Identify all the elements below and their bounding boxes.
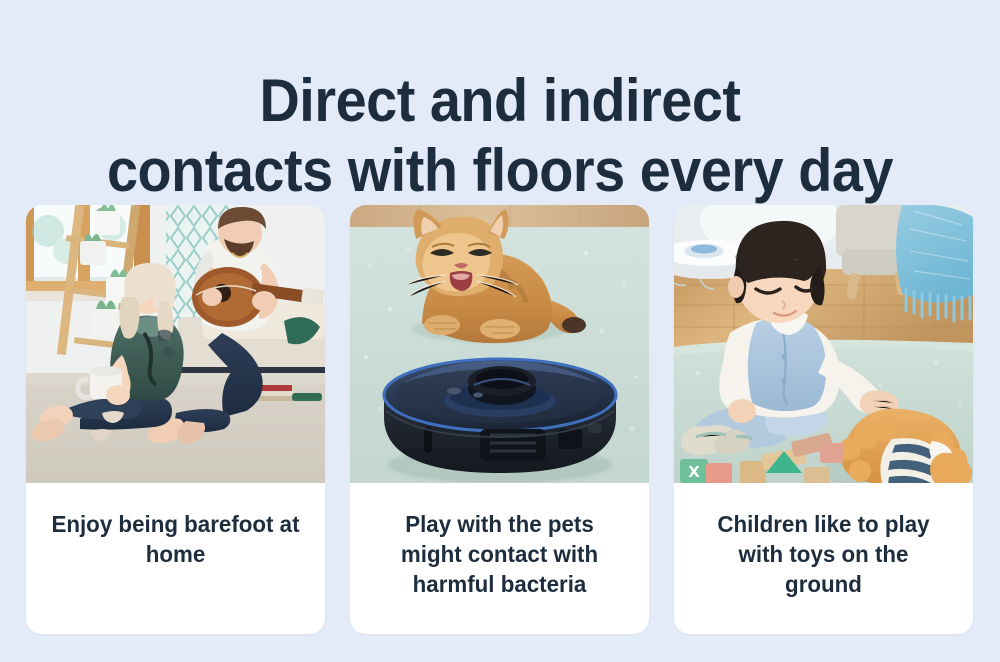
child-playing-with-toys-photo: X [674, 205, 973, 483]
card-caption: Play with the pets might contact with ha… [357, 483, 641, 634]
page-title-line-1: Direct and indirect [35, 66, 965, 136]
feature-card-2: Play with the pets might contact with ha… [350, 205, 649, 634]
page-title: Direct and indirect contacts with floors… [35, 66, 965, 206]
card-caption: Children like to play with toys on the g… [681, 483, 965, 634]
couple-sitting-on-carpet-floor-photo [26, 205, 325, 483]
feature-card-1: Enjoy being barefoot at home [26, 205, 325, 634]
svg-text:X: X [688, 463, 700, 481]
page-title-line-2: contacts with floors every day [35, 136, 965, 206]
cat-and-robot-vacuum-photo [350, 205, 649, 483]
feature-card-3: X Children like to play with toys on the… [674, 205, 973, 634]
card-row: Enjoy being barefoot at home [26, 205, 975, 634]
card-caption: Enjoy being barefoot at home [33, 483, 317, 634]
infographic-page: Direct and indirect contacts with floors… [0, 0, 1000, 662]
